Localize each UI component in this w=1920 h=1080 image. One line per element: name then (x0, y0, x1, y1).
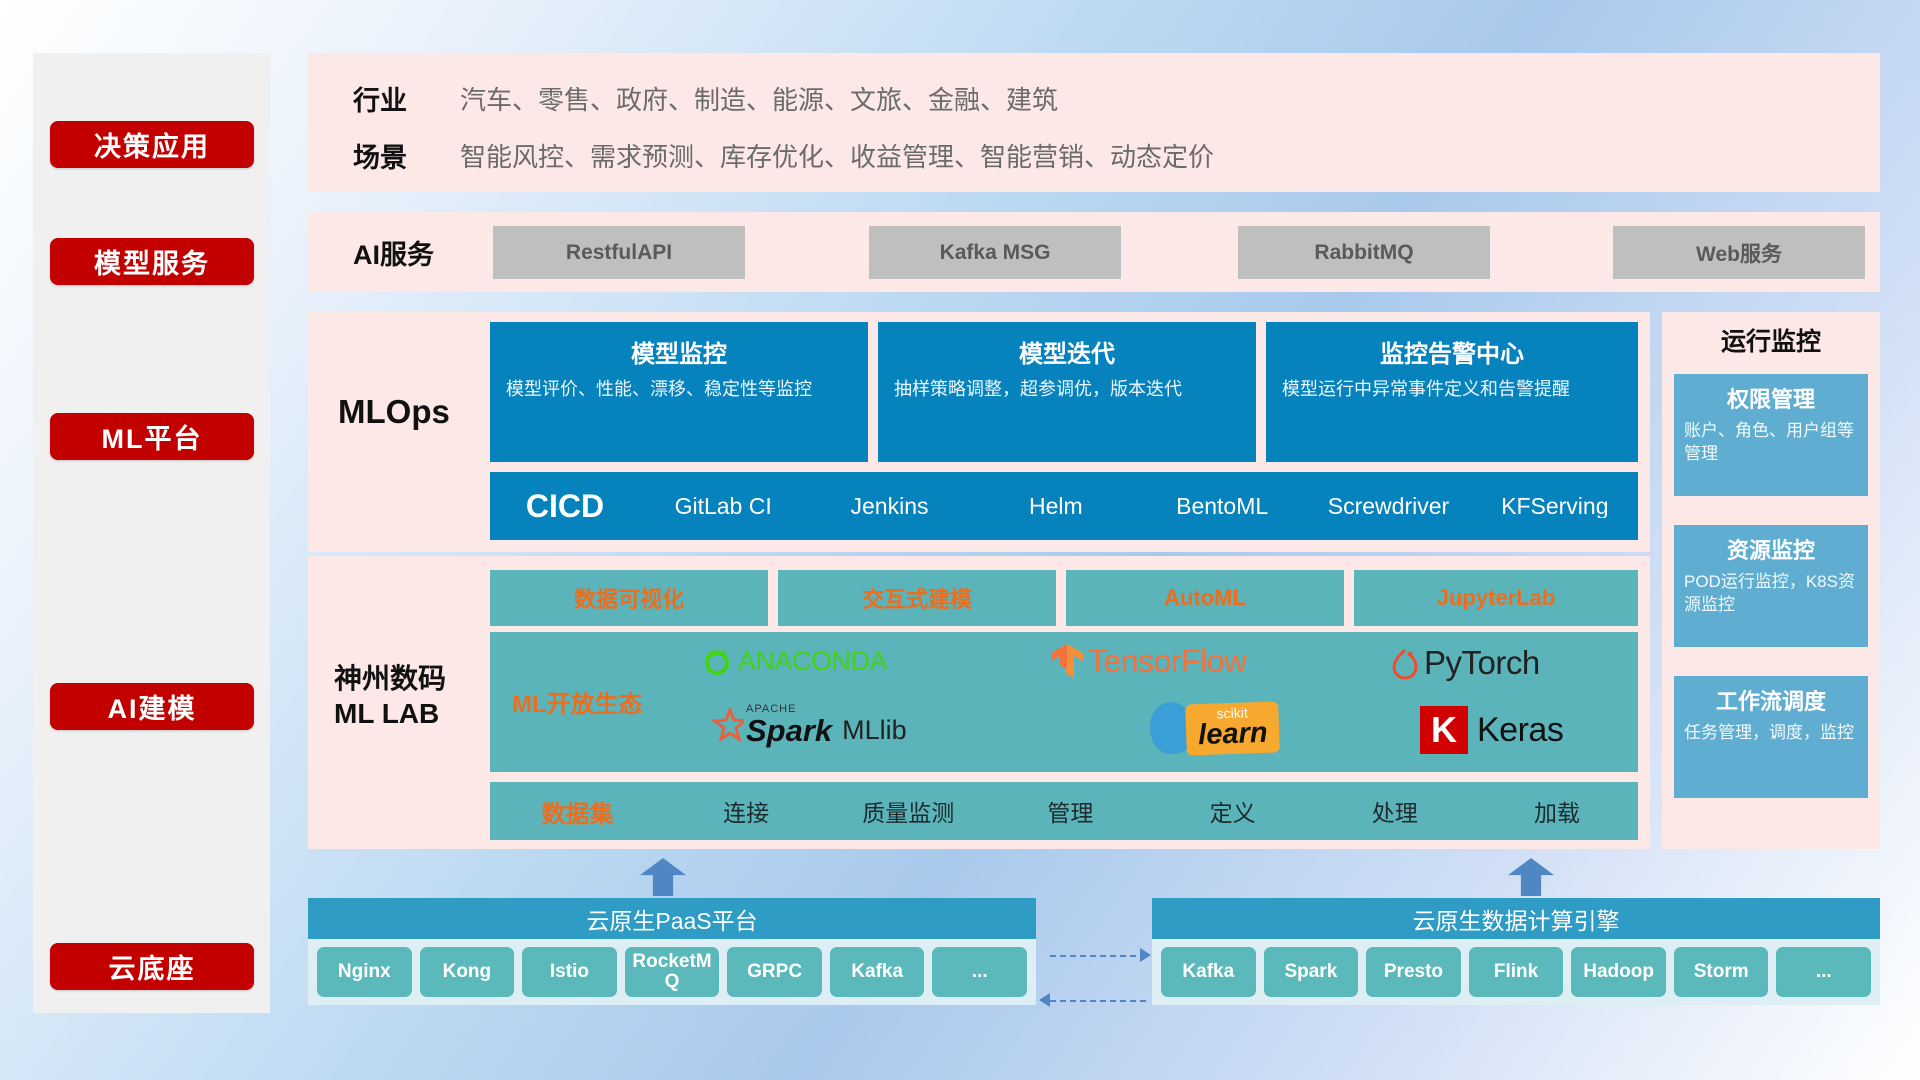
cicd-item-gitlab-ci[interactable]: GitLab CI (640, 494, 806, 518)
dataset-item-process[interactable]: 处理 (1314, 794, 1476, 828)
card-desc: 模型评价、性能、漂移、稳定性等监控 (506, 377, 852, 401)
mllib-wordmark: MLlib (842, 715, 907, 746)
cloud-data-engine-chips: Kafka Spark Presto Flink Hadoop Storm ..… (1152, 939, 1880, 1005)
keras-logo: K Keras (1420, 706, 1563, 754)
diagram-canvas: 决策应用 模型服务 ML平台 AI建模 云底座 行业 汽车、零售、政府、制造、能… (0, 0, 1920, 1080)
ml-lab-label-en: ML LAB (334, 696, 446, 731)
tensorflow-mark-icon (1050, 642, 1084, 680)
scenario-label: 场景 (353, 136, 407, 175)
industry-value: 汽车、零售、政府、制造、能源、文旅、金融、建筑 (460, 80, 1058, 117)
pytorch-logo: PyTorch (1390, 644, 1540, 682)
cloud-paas-block: 云原生PaaS平台 Nginx Kong Istio RocketMQ GRPC… (308, 898, 1036, 1005)
dataset-item-load[interactable]: 加载 (1476, 794, 1638, 828)
card-desc: 账户、角色、用户组等管理 (1684, 420, 1858, 466)
scikit-orange-blob-icon: scikit learn (1185, 701, 1280, 755)
rail-badge-ml-platform[interactable]: ML平台 (50, 413, 254, 460)
rail-badge-ai-modeling[interactable]: AI建模 (50, 683, 254, 730)
dataset-band: 数据集 连接 质量监测 管理 定义 处理 加载 (490, 782, 1638, 840)
anaconda-wordmark: ANACONDA (738, 646, 887, 677)
cicd-item-screwdriver[interactable]: Screwdriver (1305, 494, 1471, 518)
dataset-item-manage[interactable]: 管理 (989, 794, 1151, 828)
ml-lab-label: 神州数码 ML LAB (334, 661, 446, 731)
anaconda-logo: ANACONDA (702, 646, 887, 677)
monitor-card-workflow[interactable]: 工作流调度 任务管理，调度，监控 (1674, 676, 1868, 798)
card-desc: 抽样策略调整，超参调优，版本迭代 (894, 377, 1240, 401)
dataset-item-connect[interactable]: 连接 (665, 794, 827, 828)
tensorflow-logo: TensorFlow (1050, 642, 1247, 680)
uparrow-paas-icon (640, 858, 686, 896)
mlops-card-model-monitoring[interactable]: 模型监控 模型评价、性能、漂移、稳定性等监控 (490, 322, 868, 462)
cicd-bar: CICD GitLab CI Jenkins Helm BentoML Scre… (490, 472, 1638, 540)
scikit-learn-wordmark: learn (1198, 718, 1268, 749)
spark-star-icon (708, 708, 744, 742)
ai-service-label: AI服务 (353, 212, 434, 292)
card-title: 监控告警中心 (1282, 334, 1622, 369)
engine-chip-hadoop[interactable]: Hadoop (1571, 947, 1666, 997)
industry-scenario-panel: 行业 汽车、零售、政府、制造、能源、文旅、金融、建筑 场景 智能风控、需求预测、… (308, 53, 1880, 192)
ml-tool-automl[interactable]: AutoML (1066, 570, 1344, 626)
dataset-title: 数据集 (490, 794, 665, 829)
engine-chip-kafka[interactable]: Kafka (1161, 947, 1256, 997)
engine-chip-spark[interactable]: Spark (1264, 947, 1359, 997)
rail-badge-model-service[interactable]: 模型服务 (50, 238, 254, 285)
ai-service-chip-restfulapi[interactable]: RestfulAPI (493, 226, 745, 279)
ml-lab-label-cn: 神州数码 (334, 661, 446, 696)
cicd-item-jenkins[interactable]: Jenkins (806, 494, 972, 518)
engine-chip-storm[interactable]: Storm (1674, 947, 1769, 997)
connector-arrow-left-icon (1039, 993, 1050, 1007)
card-title: 模型迭代 (894, 334, 1240, 369)
engine-chip-flink[interactable]: Flink (1469, 947, 1564, 997)
monitor-card-permission[interactable]: 权限管理 账户、角色、用户组等管理 (1674, 374, 1868, 496)
ml-tool-data-visualization[interactable]: 数据可视化 (490, 570, 768, 626)
cloud-data-engine-block: 云原生数据计算引擎 Kafka Spark Presto Flink Hadoo… (1152, 898, 1880, 1005)
dataset-item-define[interactable]: 定义 (1152, 794, 1314, 828)
ai-service-panel: AI服务 RestfulAPI Kafka MSG RabbitMQ Web服务 (308, 212, 1880, 292)
cloud-chip-grpc[interactable]: GRPC (727, 947, 822, 997)
dataset-item-quality[interactable]: 质量监测 (827, 794, 989, 828)
ml-lab-panel: 神州数码 ML LAB 数据可视化 交互式建模 AutoML JupyterLa… (308, 556, 1650, 849)
scikit-learn-logo: scikit learn (1150, 702, 1279, 754)
ai-service-chip-web-service[interactable]: Web服务 (1613, 226, 1865, 279)
card-desc: 模型运行中异常事件定义和告警提醒 (1282, 377, 1622, 401)
runtime-monitor-title: 运行监控 (1662, 322, 1880, 358)
monitor-card-resource[interactable]: 资源监控 POD运行监控，K8S资源监控 (1674, 525, 1868, 647)
mlops-panel: MLOps 模型监控 模型评价、性能、漂移、稳定性等监控 模型迭代 抽样策略调整… (308, 312, 1650, 552)
industry-label: 行业 (353, 79, 407, 118)
rail-badge-cloud-base[interactable]: 云底座 (50, 943, 254, 990)
ml-ecosystem-band: ML开放生态 ANACONDA TensorFlow (490, 632, 1638, 772)
engine-chip-presto[interactable]: Presto (1366, 947, 1461, 997)
cloud-paas-chips: Nginx Kong Istio RocketMQ GRPC Kafka ... (308, 939, 1036, 1005)
pytorch-flame-icon (1390, 646, 1420, 680)
engine-chip-more[interactable]: ... (1776, 947, 1871, 997)
mlops-label: MLOps (338, 367, 450, 457)
cloud-chip-nginx[interactable]: Nginx (317, 947, 412, 997)
spark-mllib-logo: APACHE Spark MLlib (708, 704, 907, 746)
mlops-card-alert-center[interactable]: 监控告警中心 模型运行中异常事件定义和告警提醒 (1266, 322, 1638, 462)
cloud-chip-kafka[interactable]: Kafka (830, 947, 925, 997)
keras-wordmark: Keras (1477, 711, 1563, 750)
card-title: 资源监控 (1684, 533, 1858, 565)
cloud-data-engine-title: 云原生数据计算引擎 (1152, 898, 1880, 939)
ai-service-chip-kafka-msg[interactable]: Kafka MSG (869, 226, 1121, 279)
cloud-chip-more[interactable]: ... (932, 947, 1027, 997)
card-desc: 任务管理，调度，监控 (1684, 722, 1858, 745)
cloud-chip-rocketmq[interactable]: RocketMQ (625, 947, 720, 997)
rail-badge-decision[interactable]: 决策应用 (50, 121, 254, 168)
connector-line-left (1050, 1000, 1146, 1002)
ml-tool-jupyterlab[interactable]: JupyterLab (1354, 570, 1638, 626)
runtime-monitor-panel: 运行监控 权限管理 账户、角色、用户组等管理 资源监控 POD运行监控，K8S资… (1662, 312, 1880, 849)
ml-ecosystem-label: ML开放生态 (512, 684, 643, 719)
cicd-title: CICD (490, 488, 640, 525)
cicd-item-kfserving[interactable]: KFServing (1472, 494, 1638, 518)
card-desc: POD运行监控，K8S资源监控 (1684, 571, 1858, 617)
ml-tool-interactive-modeling[interactable]: 交互式建模 (778, 570, 1056, 626)
ai-service-chip-rabbitmq[interactable]: RabbitMQ (1238, 226, 1490, 279)
left-rail: 决策应用 模型服务 ML平台 AI建模 云底座 (33, 53, 270, 1013)
tensorflow-wordmark: TensorFlow (1088, 643, 1247, 680)
scenario-value: 智能风控、需求预测、库存优化、收益管理、智能营销、动态定价 (460, 137, 1214, 174)
card-title: 权限管理 (1684, 382, 1858, 414)
cicd-item-bentoml[interactable]: BentoML (1139, 494, 1305, 518)
keras-mark-icon: K (1420, 706, 1468, 754)
cicd-item-helm[interactable]: Helm (973, 494, 1139, 518)
connector-line-right (1050, 955, 1146, 957)
connector-arrow-right-icon (1140, 948, 1151, 962)
pytorch-wordmark: PyTorch (1424, 644, 1540, 682)
uparrow-data-engine-icon (1508, 858, 1554, 896)
anaconda-ring-icon (702, 647, 732, 677)
cloud-chip-kong[interactable]: Kong (420, 947, 515, 997)
spark-wordmark: Spark (746, 713, 832, 748)
card-title: 模型监控 (506, 334, 852, 369)
mlops-card-model-iteration[interactable]: 模型迭代 抽样策略调整，超参调优，版本迭代 (878, 322, 1256, 462)
cloud-chip-istio[interactable]: Istio (522, 947, 617, 997)
cloud-paas-title: 云原生PaaS平台 (308, 898, 1036, 939)
card-title: 工作流调度 (1684, 684, 1858, 716)
